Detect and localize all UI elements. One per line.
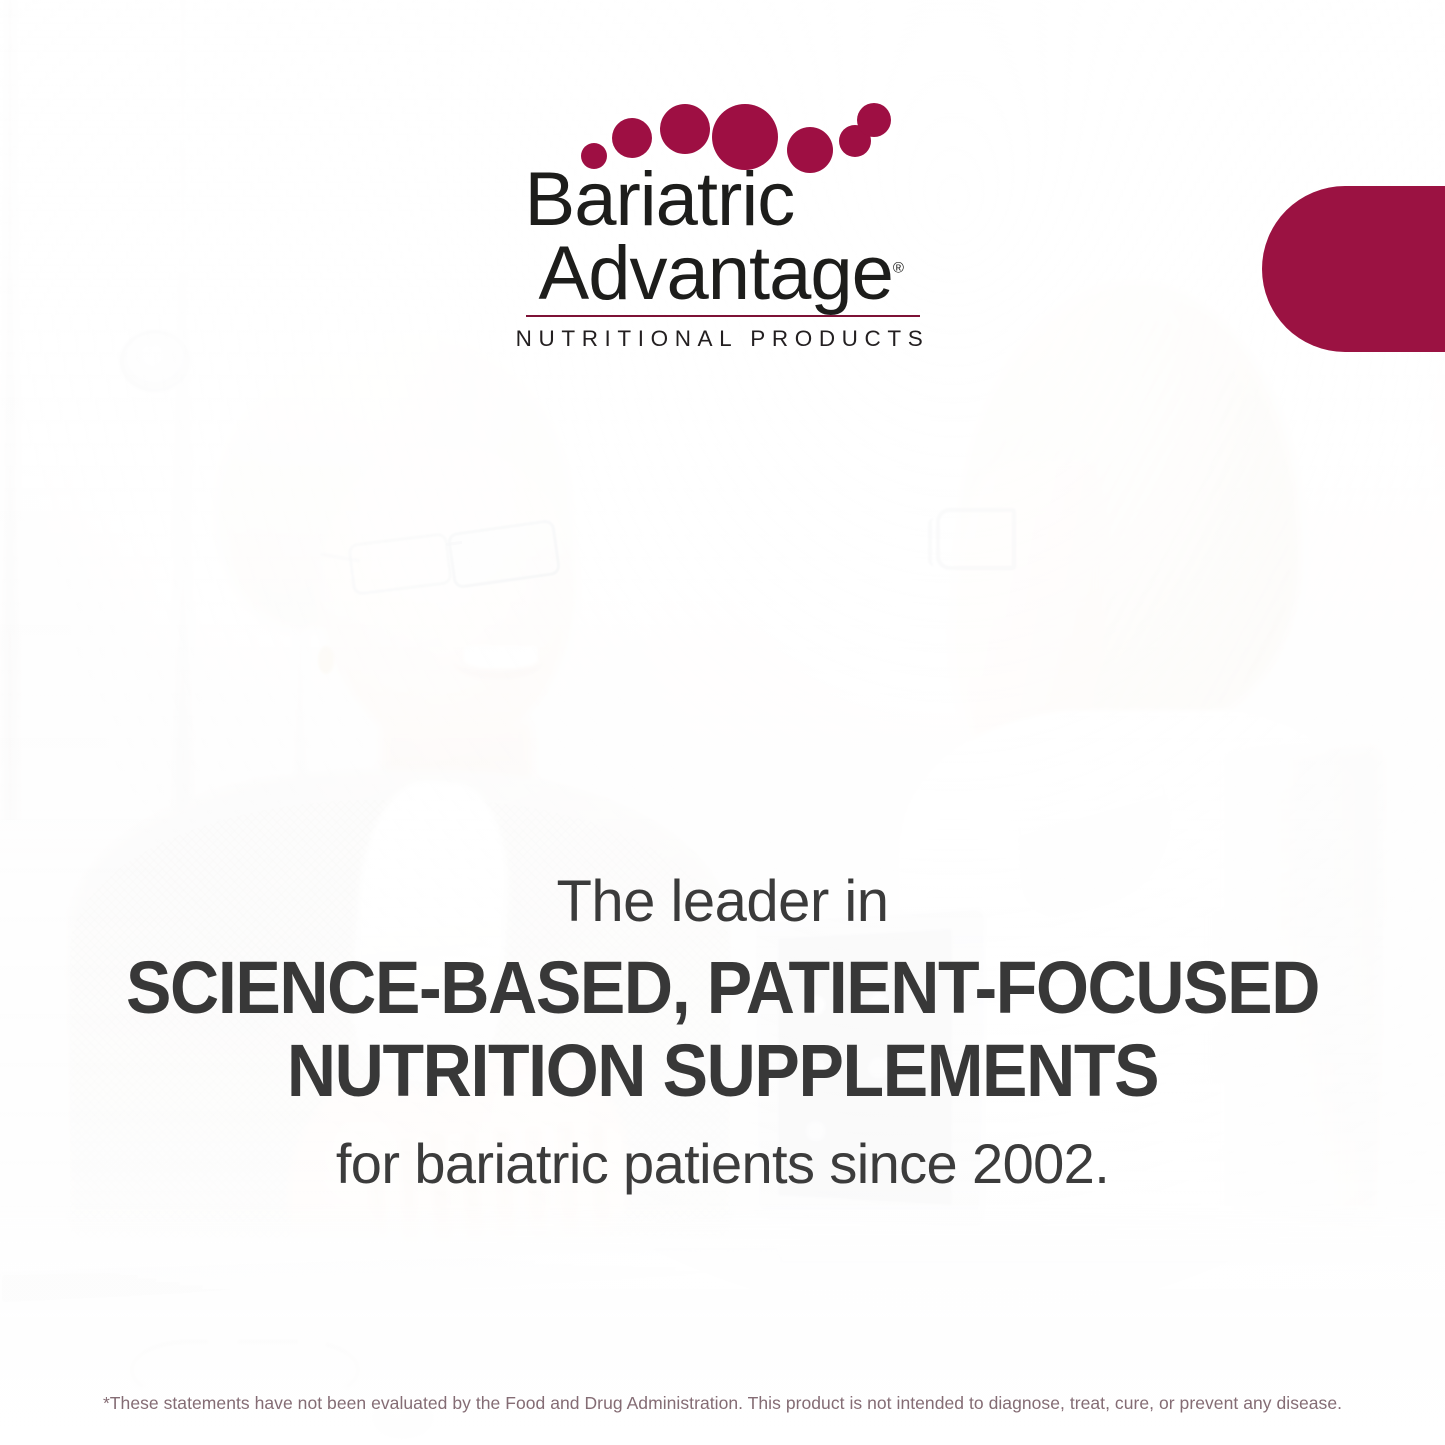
headline-kicker: for bariatric patients since 2002.	[0, 1133, 1445, 1195]
headline-line-2: NUTRITION SUPPLEMENTS	[58, 1030, 1387, 1113]
headline-block: The leader in SCIENCE-BASED, PATIENT-FOC…	[0, 872, 1445, 1194]
background-photo	[0, 0, 1445, 1445]
promo-banner: Bariatric Advantage® NUTRITIONAL PRODUCT…	[0, 0, 1445, 1445]
fda-disclaimer: *These statements have not been evaluate…	[0, 1393, 1445, 1414]
maroon-pill-accent	[1262, 186, 1445, 352]
headline-eyebrow: The leader in	[0, 872, 1445, 933]
headline-line-1: SCIENCE-BASED, PATIENT-FOCUSED	[58, 947, 1387, 1030]
photo-highlight-overlay	[0, 0, 1445, 1445]
